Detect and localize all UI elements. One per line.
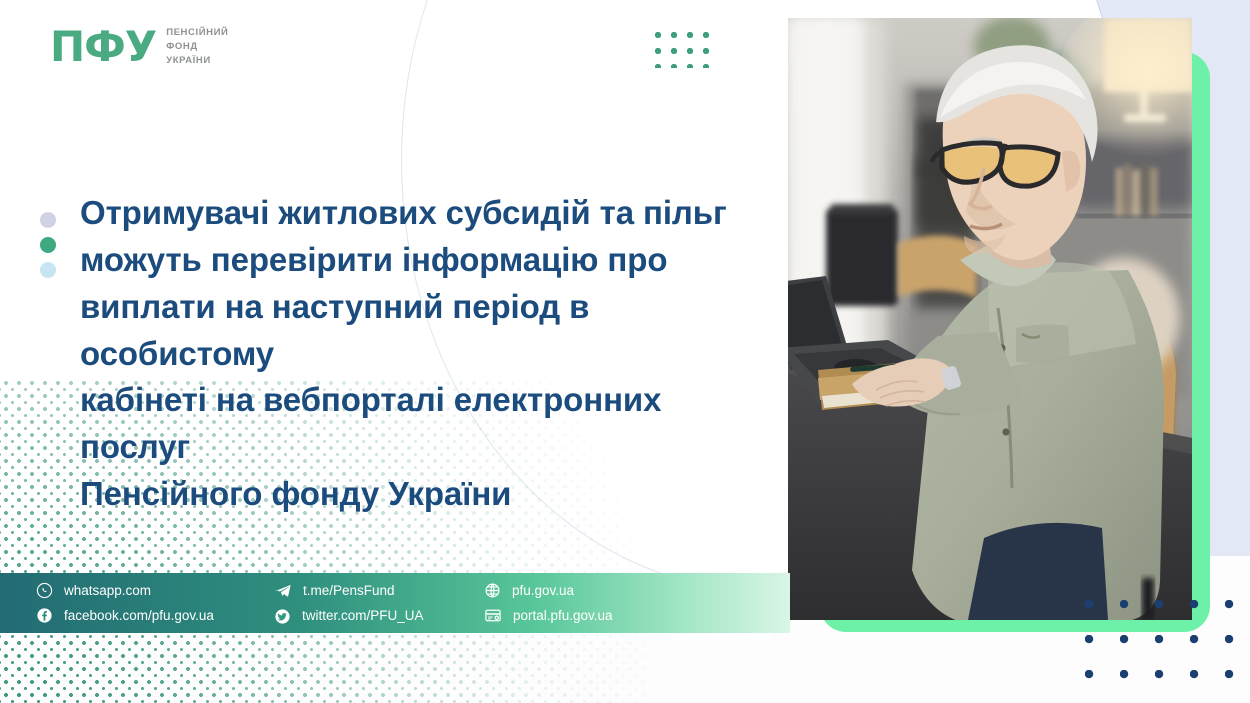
portal-card-icon xyxy=(484,607,502,624)
footer-link-label: portal.pfu.gov.ua xyxy=(513,609,613,623)
footer-column-1: whatsapp.com facebook.com/pfu.gov.ua xyxy=(36,582,274,624)
footer-link-label: twitter.com/PFU_UA xyxy=(302,609,424,623)
bullet-lavender xyxy=(40,212,56,228)
footer-link-label: whatsapp.com xyxy=(64,584,151,598)
photo-footer-overlap xyxy=(788,573,1192,633)
footer-link-website[interactable]: pfu.gov.ua xyxy=(484,582,684,599)
photo-elderly-man-laptop xyxy=(788,18,1192,620)
footer-link-whatsapp[interactable]: whatsapp.com xyxy=(36,582,274,599)
logo-line-1: ПЕНСІЙНИЙ xyxy=(166,27,228,39)
headline-line-5: Пенсійного фонду України xyxy=(80,471,780,518)
social-footer-bar: whatsapp.com facebook.com/pfu.gov.ua xyxy=(0,573,790,633)
footer-link-facebook[interactable]: facebook.com/pfu.gov.ua xyxy=(36,607,274,624)
logo-line-3: УКРАЇНИ xyxy=(166,55,228,67)
logo-mark: ПФУ xyxy=(50,26,156,68)
bullet-blue xyxy=(40,262,56,278)
headline-line-2: можуть перевірити інформацію про xyxy=(80,237,780,284)
twitter-icon xyxy=(274,608,291,625)
pfu-logo[interactable]: ПФУ ПЕНСІЙНИЙ ФОНД УКРАЇНИ xyxy=(50,26,228,68)
headline-line-3: виплати на наступний період в особистому xyxy=(80,284,780,378)
footer-link-portal[interactable]: portal.pfu.gov.ua xyxy=(484,607,684,624)
footer-link-label: facebook.com/pfu.gov.ua xyxy=(64,609,214,623)
whatsapp-icon xyxy=(36,582,53,599)
headline-line-1: Отримувачі житлових субсидій та пільг xyxy=(80,190,780,237)
footer-link-label: t.me/PensFund xyxy=(303,584,395,598)
footer-link-twitter[interactable]: twitter.com/PFU_UA xyxy=(274,608,484,625)
facebook-icon xyxy=(36,607,53,624)
poster-canvas: whatsapp.com facebook.com/pfu.gov.ua xyxy=(0,0,1250,703)
bullet-green xyxy=(40,237,56,253)
globe-icon xyxy=(484,582,501,599)
logo-wordmark: ПЕНСІЙНИЙ ФОНД УКРАЇНИ xyxy=(166,27,228,67)
logo-line-2: ФОНД xyxy=(166,41,228,53)
telegram-icon xyxy=(274,582,292,600)
headline-line-4: кабінеті на вебпорталі електронних послу… xyxy=(80,377,780,471)
bullet-dots xyxy=(40,212,56,278)
footer-link-telegram[interactable]: t.me/PensFund xyxy=(274,582,484,600)
green-dot-grid xyxy=(655,32,717,68)
footer-link-label: pfu.gov.ua xyxy=(512,584,574,598)
headline: Отримувачі житлових субсидій та пільг мо… xyxy=(80,190,780,518)
footer-column-3: pfu.gov.ua portal.pfu.gov.ua xyxy=(484,582,684,624)
footer-column-2: t.me/PensFund twitter.com/PFU_UA xyxy=(274,582,484,625)
photo-frame xyxy=(788,18,1192,620)
